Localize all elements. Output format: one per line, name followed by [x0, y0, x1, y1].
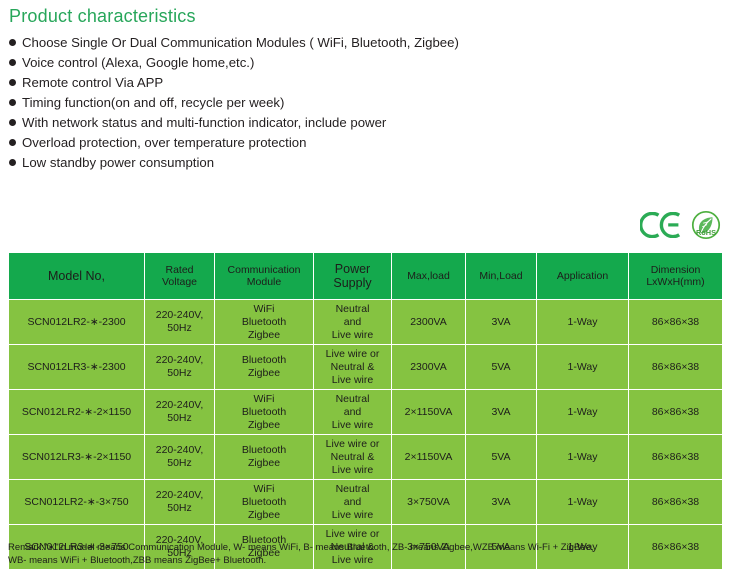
table-cell-value: 86×86×38: [652, 316, 699, 328]
table-row: SCN012LR2-∗-2×1150220-240V,50HzWiFiBluet…: [9, 390, 723, 435]
table-cell-dimension: 86×86×38: [629, 390, 723, 435]
ce-mark-icon: [640, 212, 682, 243]
table-cell-line: Live wire: [316, 374, 389, 387]
table-cell-line: Neutral &: [316, 451, 389, 464]
table-cell-max-load: 3×750VA: [392, 480, 466, 525]
table-cell-module: BluetoothZigbee: [215, 345, 314, 390]
table-cell-line: Zigbee: [217, 457, 311, 470]
table-cell-line: Live wire: [316, 419, 389, 432]
table-cell-value: 3×750VA: [407, 496, 450, 508]
table-cell-application: 1-Way: [537, 345, 629, 390]
table-cell-dimension: 86×86×38: [629, 300, 723, 345]
table-header-label: Communication: [217, 264, 311, 276]
table-cell-line: 220-240V,: [147, 309, 212, 322]
table-cell-value: 5VA: [491, 361, 510, 373]
table-header-label: Model No,: [11, 269, 142, 283]
table-cell-min-load: 3VA: [466, 390, 537, 435]
table-cell-value: SCN012LR3-∗-2300: [27, 361, 125, 373]
table-header-cell: Model No,: [9, 253, 145, 300]
table-cell-line: Neutral &: [316, 361, 389, 374]
table-cell-line: Live wire: [316, 509, 389, 522]
table-header-label: Dimension: [631, 264, 720, 276]
table-header-label: LxWxH(mm): [631, 276, 720, 288]
bullet-dot-icon: [9, 159, 16, 166]
feature-item-label: Low standby power consumption: [22, 153, 214, 173]
table-cell-value: 3VA: [491, 406, 510, 418]
table-cell-voltage: 220-240V,50Hz: [145, 345, 215, 390]
bullet-dot-icon: [9, 59, 16, 66]
table-cell-voltage: 220-240V,50Hz: [145, 390, 215, 435]
table-cell-value: 3VA: [491, 316, 510, 328]
table-cell-value: SCN012LR2-∗-3×750: [24, 496, 128, 508]
table-cell-line: Zigbee: [217, 329, 311, 342]
feature-item: Timing function(on and off, recycle per …: [9, 93, 569, 113]
table-header-cell: CommunicationModule: [215, 253, 314, 300]
table-header-label: Power: [316, 262, 389, 276]
table-cell-line: Bluetooth: [217, 316, 311, 329]
table-header-label: Max,load: [394, 270, 463, 282]
table-cell-value: 86×86×38: [652, 496, 699, 508]
table-cell-line: Live wire or: [316, 438, 389, 451]
table-cell-line: and: [316, 316, 389, 329]
table-cell-line: Bluetooth: [217, 406, 311, 419]
table-cell-dimension: 86×86×38: [629, 435, 723, 480]
table-header-cell: Max,load: [392, 253, 466, 300]
table-cell-value: 1-Way: [568, 406, 598, 418]
feature-item: Remote control Via APP: [9, 73, 569, 93]
table-cell-value: 2×1150VA: [405, 451, 453, 463]
feature-item-label: Timing function(on and off, recycle per …: [22, 93, 284, 113]
feature-item-label: With network status and multi-function i…: [22, 113, 386, 133]
table-cell-min-load: 5VA: [466, 435, 537, 480]
table-cell-line: WiFi: [217, 483, 311, 496]
feature-item-label: Voice control (Alexa, Google home,etc.): [22, 53, 254, 73]
table-header-label: Module: [217, 276, 311, 288]
bullet-dot-icon: [9, 139, 16, 146]
table-cell-model: SCN012LR3-∗-2×1150: [9, 435, 145, 480]
table-header-label: Min,Load: [468, 270, 534, 282]
table-cell-line: Bluetooth: [217, 444, 311, 457]
table-cell-line: Zigbee: [217, 367, 311, 380]
table-cell-line: Bluetooth: [217, 496, 311, 509]
table-cell-supply: NeutralandLive wire: [314, 390, 392, 435]
table-cell-line: Zigbee: [217, 419, 311, 432]
table-cell-min-load: 3VA: [466, 480, 537, 525]
table-cell-line: Zigbee: [217, 509, 311, 522]
rohs-mark-icon: RoHS: [691, 210, 721, 245]
remark-note: Remark:"∗"in model means Communication M…: [8, 541, 720, 567]
table-cell-line: and: [316, 406, 389, 419]
table-cell-line: Live wire: [316, 329, 389, 342]
table-cell-model: SCN012LR2-∗-3×750: [9, 480, 145, 525]
table-cell-line: 220-240V,: [147, 444, 212, 457]
table-cell-module: BluetoothZigbee: [215, 435, 314, 480]
table-cell-value: 86×86×38: [652, 406, 699, 418]
table-cell-line: 220-240V,: [147, 489, 212, 502]
feature-item: With network status and multi-function i…: [9, 113, 569, 133]
table-cell-min-load: 3VA: [466, 300, 537, 345]
table-cell-application: 1-Way: [537, 435, 629, 480]
table-row: SCN012LR3-∗-2300220-240V,50HzBluetoothZi…: [9, 345, 723, 390]
table-cell-max-load: 2300VA: [392, 345, 466, 390]
table-cell-application: 1-Way: [537, 390, 629, 435]
bullet-dot-icon: [9, 99, 16, 106]
table-cell-module: WiFiBluetoothZigbee: [215, 300, 314, 345]
feature-item: Voice control (Alexa, Google home,etc.): [9, 53, 569, 73]
table-cell-model: SCN012LR2-∗-2300: [9, 300, 145, 345]
table-cell-value: 5VA: [491, 451, 510, 463]
table-cell-dimension: 86×86×38: [629, 480, 723, 525]
feature-item: Overload protection, over temperature pr…: [9, 133, 569, 153]
table-cell-line: 50Hz: [147, 502, 212, 515]
feature-item-label: Choose Single Or Dual Communication Modu…: [22, 33, 459, 53]
bullet-dot-icon: [9, 119, 16, 126]
table-cell-value: SCN012LR2-∗-2300: [27, 316, 125, 328]
product-characteristics-list: Choose Single Or Dual Communication Modu…: [9, 33, 569, 173]
table-cell-value: 2300VA: [410, 361, 447, 373]
page-title: Product characteristics: [9, 6, 196, 27]
table-row: SCN012LR2-∗-2300220-240V,50HzWiFiBluetoo…: [9, 300, 723, 345]
feature-item-label: Remote control Via APP: [22, 73, 163, 93]
table-cell-min-load: 5VA: [466, 345, 537, 390]
table-cell-voltage: 220-240V,50Hz: [145, 435, 215, 480]
table-cell-value: 86×86×38: [652, 361, 699, 373]
remark-line-1: Remark:"∗"in model means Communication M…: [8, 541, 720, 554]
table-header-cell: PowerSupply: [314, 253, 392, 300]
product-specification-table: Model No,RatedVoltageCommunicationModule…: [8, 252, 723, 570]
table-header-cell: RatedVoltage: [145, 253, 215, 300]
table-cell-supply: Live wire orNeutral &Live wire: [314, 345, 392, 390]
table-row: SCN012LR3-∗-2×1150220-240V,50HzBluetooth…: [9, 435, 723, 480]
remark-line-2: WB- means WiFi + Bluetooth,ZBB means Zig…: [8, 554, 720, 567]
table-cell-line: Neutral: [316, 483, 389, 496]
table-row: SCN012LR2-∗-3×750220-240V,50HzWiFiBlueto…: [9, 480, 723, 525]
table-cell-model: SCN012LR2-∗-2×1150: [9, 390, 145, 435]
table-header-label: Supply: [316, 276, 389, 290]
table-header-label: Voltage: [147, 276, 212, 288]
table-cell-line: WiFi: [217, 303, 311, 316]
table-cell-line: and: [316, 496, 389, 509]
table-cell-application: 1-Way: [537, 480, 629, 525]
table-cell-max-load: 2×1150VA: [392, 390, 466, 435]
table-cell-line: 50Hz: [147, 457, 212, 470]
table-cell-model: SCN012LR3-∗-2300: [9, 345, 145, 390]
table-cell-max-load: 2300VA: [392, 300, 466, 345]
table-cell-line: Neutral: [316, 303, 389, 316]
table-header-cell: Min,Load: [466, 253, 537, 300]
feature-item: Choose Single Or Dual Communication Modu…: [9, 33, 569, 53]
table-header-label: Application: [539, 270, 626, 282]
table-cell-value: 1-Way: [568, 361, 598, 373]
table-cell-value: SCN012LR3-∗-2×1150: [22, 451, 131, 463]
feature-item-label: Overload protection, over temperature pr…: [22, 133, 306, 153]
table-cell-line: Live wire or: [316, 348, 389, 361]
bullet-dot-icon: [9, 79, 16, 86]
table-cell-dimension: 86×86×38: [629, 345, 723, 390]
table-cell-module: WiFiBluetoothZigbee: [215, 480, 314, 525]
table-cell-line: Live wire: [316, 464, 389, 477]
table-header-cell: Application: [537, 253, 629, 300]
table-cell-value: 2×1150VA: [405, 406, 453, 418]
table-cell-supply: Live wire orNeutral &Live wire: [314, 435, 392, 480]
table-cell-line: WiFi: [217, 393, 311, 406]
table-cell-line: Neutral: [316, 393, 389, 406]
table-cell-line: Bluetooth: [217, 354, 311, 367]
table-header-label: Rated: [147, 264, 212, 276]
table-cell-value: 3VA: [491, 496, 510, 508]
table-cell-supply: NeutralandLive wire: [314, 480, 392, 525]
table-cell-value: 1-Way: [568, 496, 598, 508]
certification-marks: RoHS: [640, 210, 721, 245]
table-cell-line: 50Hz: [147, 367, 212, 380]
table-cell-value: 1-Way: [568, 451, 598, 463]
table-cell-value: SCN012LR2-∗-2×1150: [22, 406, 131, 418]
svg-text:RoHS: RoHS: [696, 228, 716, 237]
table-cell-module: WiFiBluetoothZigbee: [215, 390, 314, 435]
table-cell-line: 50Hz: [147, 322, 212, 335]
bullet-dot-icon: [9, 39, 16, 46]
table-cell-supply: NeutralandLive wire: [314, 300, 392, 345]
table-cell-value: 2300VA: [410, 316, 447, 328]
table-header-cell: DimensionLxWxH(mm): [629, 253, 723, 300]
table-cell-value: 1-Way: [568, 316, 598, 328]
table-cell-voltage: 220-240V,50Hz: [145, 300, 215, 345]
table-header-row: Model No,RatedVoltageCommunicationModule…: [9, 253, 723, 300]
table-cell-max-load: 2×1150VA: [392, 435, 466, 480]
table-cell-line: Live wire or: [316, 528, 389, 541]
table-cell-line: 50Hz: [147, 412, 212, 425]
table-cell-line: 220-240V,: [147, 399, 212, 412]
table-cell-voltage: 220-240V,50Hz: [145, 480, 215, 525]
table-cell-application: 1-Way: [537, 300, 629, 345]
feature-item: Low standby power consumption: [9, 153, 569, 173]
table-cell-line: 220-240V,: [147, 354, 212, 367]
table-cell-value: 86×86×38: [652, 451, 699, 463]
